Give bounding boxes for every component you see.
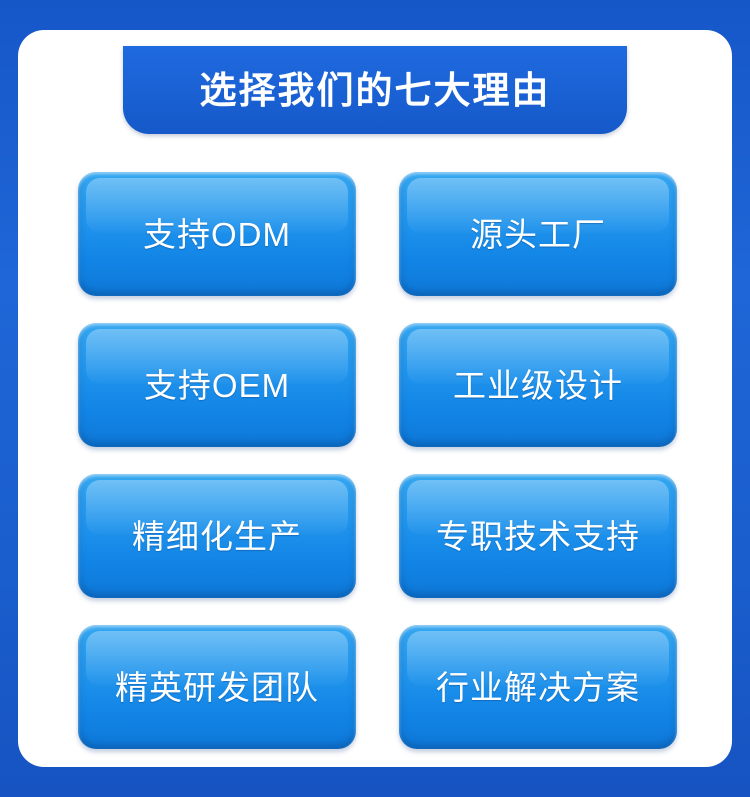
reason-card-4[interactable]: 工业级设计 (399, 323, 677, 447)
reason-card-2[interactable]: 源头工厂 (399, 172, 677, 296)
reason-label: 专职技术支持 (436, 520, 640, 553)
reasons-grid: 支持ODM 源头工厂 支持OEM 工业级设计 精细化生产 专职技术支持 精英研发… (78, 172, 678, 749)
reason-label: 行业解决方案 (436, 671, 640, 704)
reason-card-5[interactable]: 精细化生产 (78, 474, 356, 598)
reason-label: 工业级设计 (453, 369, 623, 402)
reason-label: 源头工厂 (470, 218, 606, 251)
reason-card-6[interactable]: 专职技术支持 (399, 474, 677, 598)
page-title: 选择我们的七大理由 (200, 72, 551, 109)
title-banner: 选择我们的七大理由 (123, 46, 627, 134)
reason-card-7[interactable]: 精英研发团队 (78, 625, 356, 749)
reason-card-1[interactable]: 支持ODM (78, 172, 356, 296)
reason-card-3[interactable]: 支持OEM (78, 323, 356, 447)
reason-label: 精细化生产 (132, 520, 302, 553)
reason-label: 精英研发团队 (115, 671, 319, 704)
reason-card-8[interactable]: 行业解决方案 (399, 625, 677, 749)
reason-label: 支持OEM (144, 369, 290, 402)
promo-poster: 选择我们的七大理由 支持ODM 源头工厂 支持OEM 工业级设计 精细化生产 专… (0, 0, 750, 797)
reason-label: 支持ODM (143, 218, 291, 251)
